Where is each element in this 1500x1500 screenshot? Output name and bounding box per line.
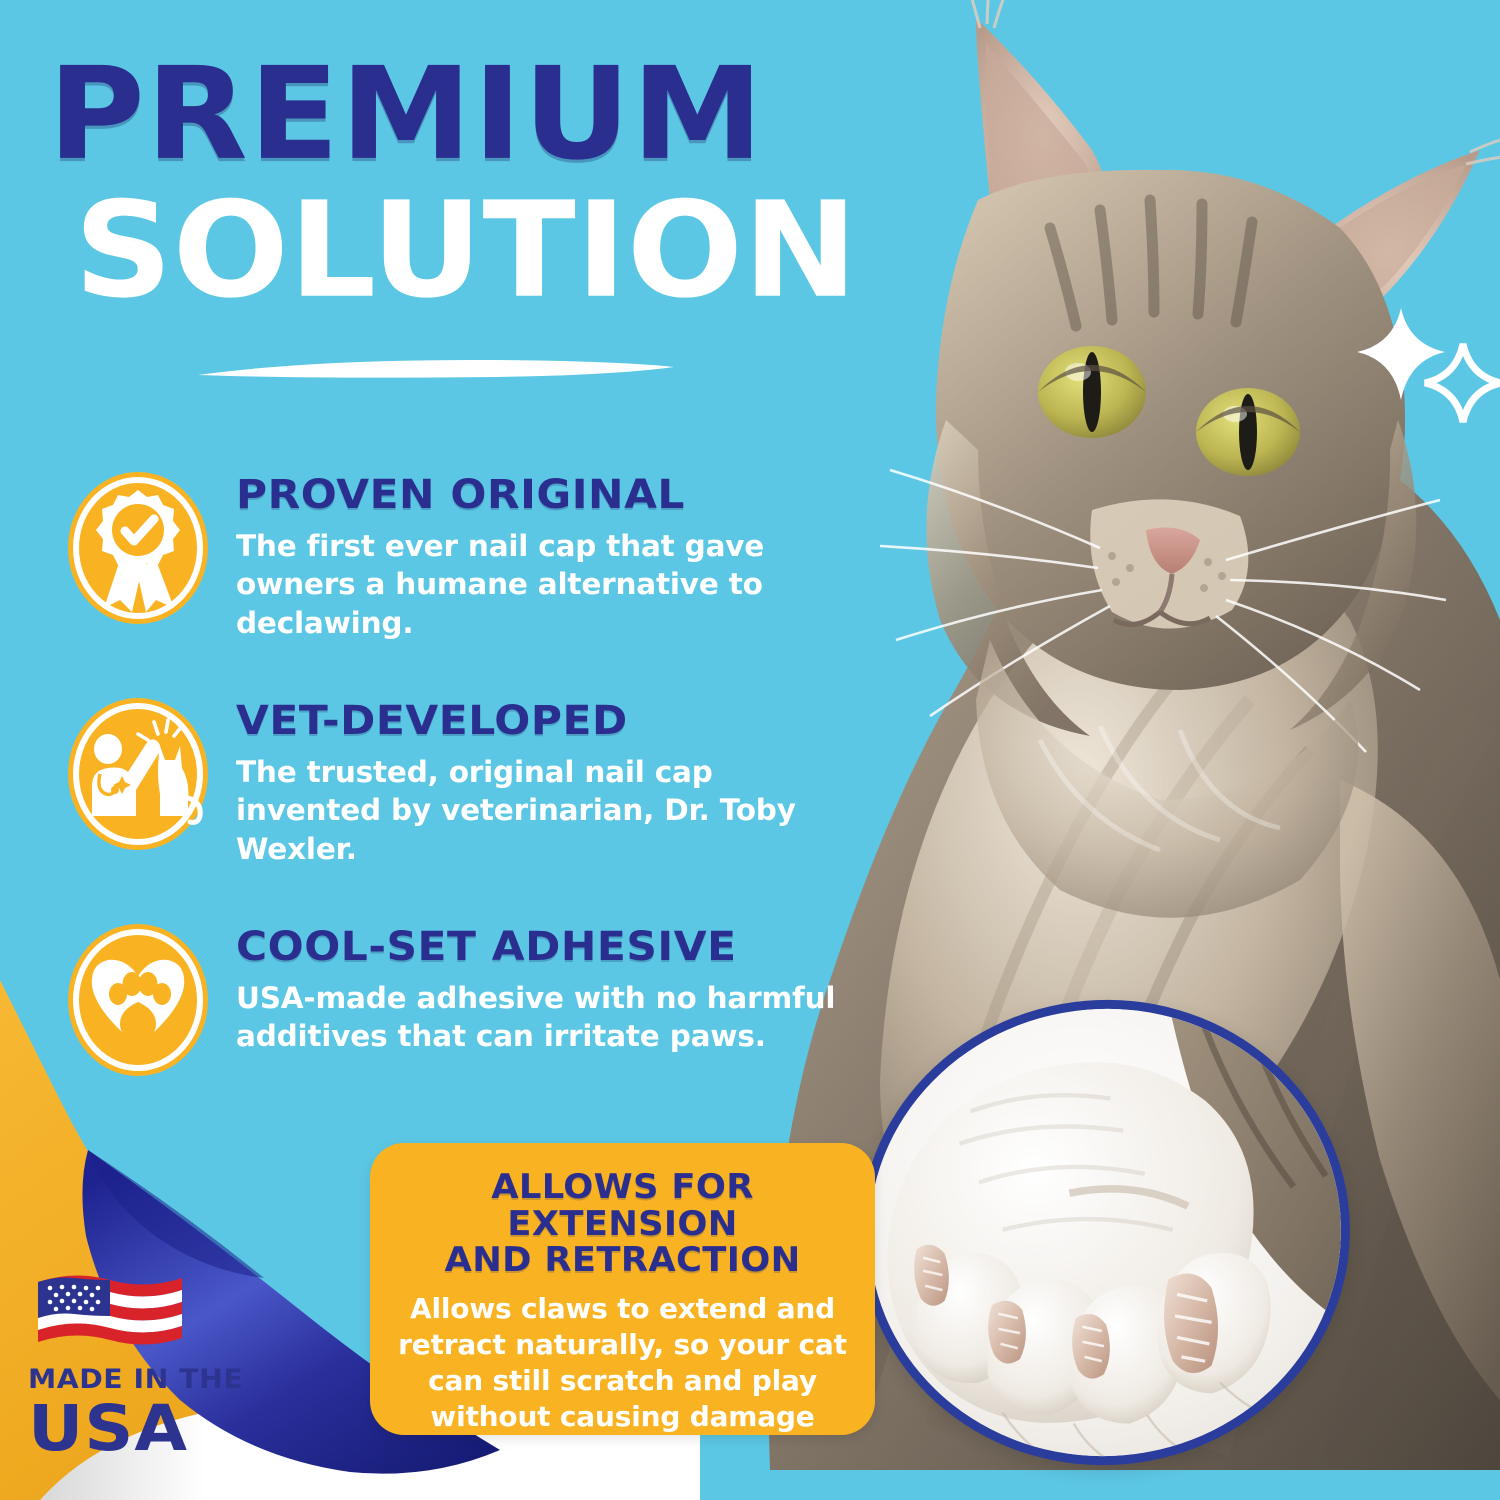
cat-paw-with-nail-caps-closeup xyxy=(841,980,1370,1486)
made-in-usa-badge: MADE IN THE USA xyxy=(28,1264,243,1460)
feature-body: The first ever nail cap that gave owners… xyxy=(236,527,836,642)
feature-body: The trusted, original nail cap invented … xyxy=(236,753,836,868)
usa-badge-line2: USA xyxy=(28,1397,260,1460)
callout-title-line1: ALLOWS FOR EXTENSION xyxy=(383,1169,862,1242)
extension-retraction-callout: ALLOWS FOR EXTENSION AND RETRACTION Allo… xyxy=(370,1143,875,1435)
sparkle-group xyxy=(1355,300,1500,430)
usa-flag-icon xyxy=(34,1264,186,1354)
product-infographic: PREMIUM SOLUTION P xyxy=(0,0,1500,1500)
headline-block: PREMIUM SOLUTION xyxy=(48,52,908,301)
vet-highfive-cat-icon xyxy=(62,694,214,854)
feature-item-vet-developed: VET-DEVELOPED The trusted, original nail… xyxy=(62,694,882,868)
callout-title-line2: AND RETRACTION xyxy=(383,1242,862,1279)
feature-title: PROVEN ORIGINAL xyxy=(236,474,921,516)
feature-title: COOL-SET ADHESIVE xyxy=(236,926,921,968)
callout-body: Allows claws to extend and retract natur… xyxy=(392,1291,853,1434)
feature-title: VET-DEVELOPED xyxy=(236,700,921,742)
sparkle-outline-icon xyxy=(1425,344,1500,422)
headline-solution: SOLUTION xyxy=(74,186,1041,314)
swoosh-divider xyxy=(196,355,676,381)
award-ribbon-check-icon xyxy=(62,468,214,628)
usa-badge-line1: MADE IN THE xyxy=(28,1366,254,1393)
headline-premium: PREMIUM xyxy=(48,52,1011,176)
feature-item-proven-original: PROVEN ORIGINAL The first ever nail cap … xyxy=(62,468,882,642)
